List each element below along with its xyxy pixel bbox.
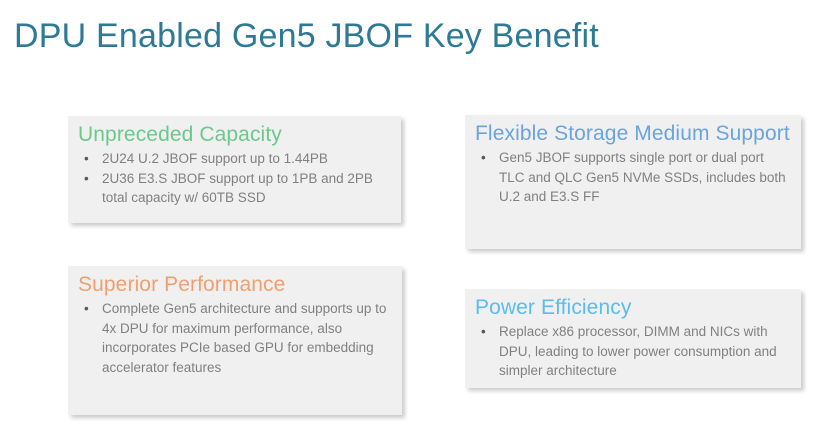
card-content: Unpreceded Capacity • 2U24 U.2 JBOF supp… <box>68 116 401 208</box>
card-heading-storage: Flexible Storage Medium Support <box>475 121 791 147</box>
slide-canvas: DPU Enabled Gen5 JBOF Key Benefit Unprec… <box>0 0 831 439</box>
list-item: • Gen5 JBOF supports single port or dual… <box>475 148 791 207</box>
card-power-efficiency: Power Efficiency • Replace x86 processor… <box>465 289 801 388</box>
bullet-list: • Replace x86 processor, DIMM and NICs w… <box>475 322 791 381</box>
bullet-icon: • <box>481 148 486 168</box>
list-item-text: Gen5 JBOF supports single port or dual p… <box>499 150 786 204</box>
card-content: Flexible Storage Medium Support • Gen5 J… <box>465 115 801 207</box>
card-content: Superior Performance • Complete Gen5 arc… <box>68 266 402 377</box>
card-heading-power: Power Efficiency <box>475 295 791 321</box>
bullet-icon: • <box>84 299 89 319</box>
list-item-text: Replace x86 processor, DIMM and NICs wit… <box>499 324 777 378</box>
page-title: DPU Enabled Gen5 JBOF Key Benefit <box>14 14 599 58</box>
card-heading-capacity: Unpreceded Capacity <box>78 122 391 148</box>
bullet-icon: • <box>481 322 486 342</box>
bullet-list: • 2U24 U.2 JBOF support up to 1.44PB • 2… <box>78 149 391 208</box>
card-heading-performance: Superior Performance <box>78 272 392 298</box>
list-item-text: 2U36 E3.S JBOF support up to 1PB and 2PB… <box>102 171 373 206</box>
list-item: • 2U36 E3.S JBOF support up to 1PB and 2… <box>78 169 391 208</box>
list-item-text: 2U24 U.2 JBOF support up to 1.44PB <box>102 151 328 166</box>
list-item-text: Complete Gen5 architecture and supports … <box>102 301 386 375</box>
bullet-icon: • <box>84 169 89 189</box>
card-flexible-storage-medium-support: Flexible Storage Medium Support • Gen5 J… <box>465 115 801 249</box>
list-item: • 2U24 U.2 JBOF support up to 1.44PB <box>78 149 391 169</box>
list-item: • Complete Gen5 architecture and support… <box>78 299 392 377</box>
card-content: Power Efficiency • Replace x86 processor… <box>465 289 801 381</box>
bullet-list: • Gen5 JBOF supports single port or dual… <box>475 148 791 207</box>
bullet-list: • Complete Gen5 architecture and support… <box>78 299 392 377</box>
card-unpreceded-capacity: Unpreceded Capacity • 2U24 U.2 JBOF supp… <box>68 116 401 223</box>
bullet-icon: • <box>84 149 89 169</box>
card-superior-performance: Superior Performance • Complete Gen5 arc… <box>68 266 402 415</box>
list-item: • Replace x86 processor, DIMM and NICs w… <box>475 322 791 381</box>
